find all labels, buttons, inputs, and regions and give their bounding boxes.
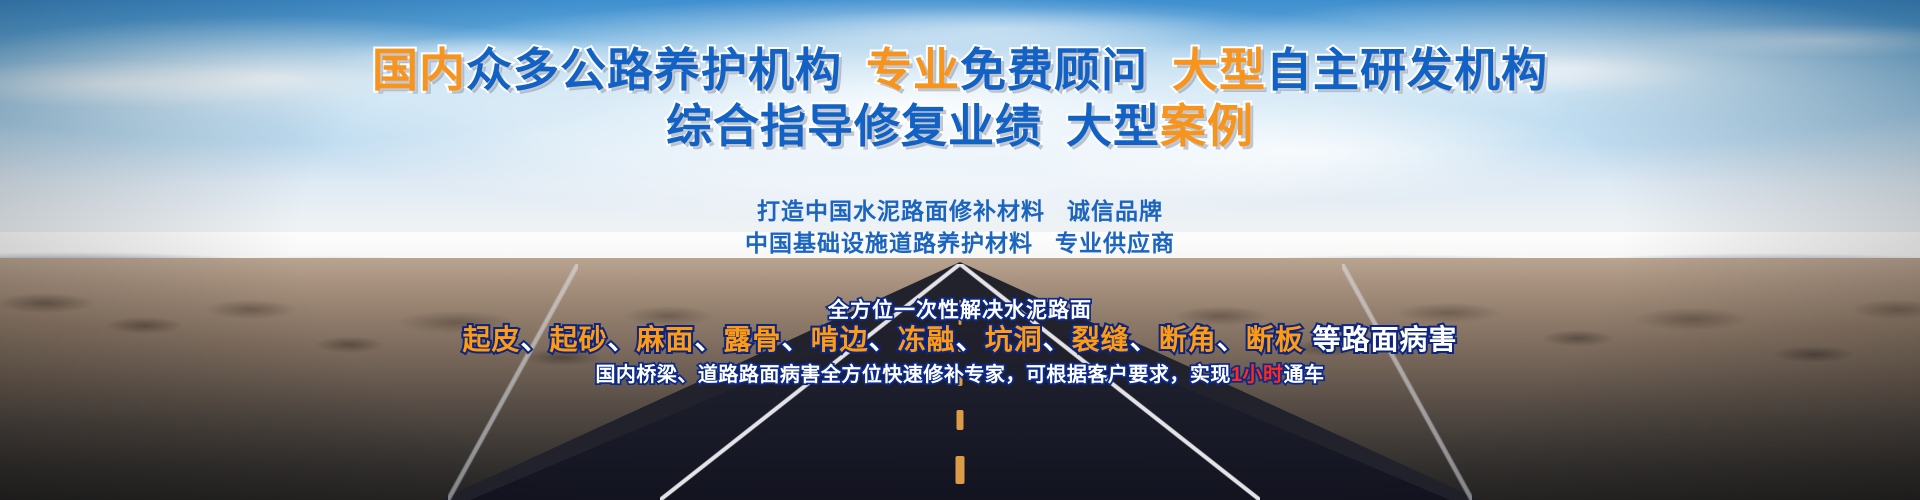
headline-seg-7: 综合指导修复业绩 <box>666 100 1042 152</box>
disease-separator-1: 、 <box>520 324 549 355</box>
headline-line-1: 国内众多公路养护机构专业免费顾问大型自主研发机构 <box>0 44 1920 96</box>
promo-banner: 国内众多公路养护机构专业免费顾问大型自主研发机构 综合指导修复业绩大型案例 打造… <box>0 0 1920 500</box>
disease-term-7: 坑洞 <box>985 324 1043 355</box>
headline-seg-8: 大型 <box>1066 100 1160 152</box>
disease-separator-4: 、 <box>782 324 811 355</box>
disease-suffix: 等路面病害 <box>1304 324 1458 355</box>
headline-seg-3: 专业 <box>866 44 960 96</box>
disease-term-6: 冻融 <box>898 324 956 355</box>
subheadline-2a: 中国基础设施道路养护材料 <box>745 230 1033 256</box>
disease-separator-9: 、 <box>1217 324 1246 355</box>
disease-term-9: 断角 <box>1159 324 1217 355</box>
disease-term-5: 啃边 <box>811 324 869 355</box>
subheadline-line-1: 打造中国水泥路面修补材料诚信品牌 <box>0 192 1920 226</box>
disease-term-4: 露骨 <box>724 324 782 355</box>
disease-separator-8: 、 <box>1130 324 1159 355</box>
subheadline-line-2: 中国基础设施道路养护材料专业供应商 <box>0 224 1920 258</box>
closing-highlight: 1小时 <box>1231 364 1284 386</box>
disease-separator-7: 、 <box>1043 324 1072 355</box>
closing-text-b: 通车 <box>1284 364 1325 386</box>
closing-text-a: 国内桥梁、道路路面病害全方位快速修补专家，可根据客户要求，实现 <box>595 364 1231 386</box>
headline-seg-9: 案例 <box>1160 100 1254 152</box>
subheadline-1a: 打造中国水泥路面修补材料 <box>757 198 1045 224</box>
disease-term-3: 麻面 <box>637 324 695 355</box>
headline-seg-6: 自主研发机构 <box>1266 44 1548 96</box>
closing-line: 国内桥梁、道路路面病害全方位快速修补专家，可根据客户要求，实现1小时通车 <box>0 358 1920 387</box>
disease-separator-2: 、 <box>608 324 637 355</box>
disease-term-10: 断板 <box>1246 324 1304 355</box>
headline-seg-1: 国内 <box>372 44 466 96</box>
headline-seg-2: 众多公路养护机构 <box>466 44 842 96</box>
disease-separator-5: 、 <box>869 324 898 355</box>
disease-term-8: 裂缝 <box>1072 324 1130 355</box>
subheadline-2b: 专业供应商 <box>1055 230 1175 256</box>
subheadline-1b: 诚信品牌 <box>1067 198 1163 224</box>
disease-separator-6: 、 <box>956 324 985 355</box>
disease-term-2: 起砂 <box>549 324 607 355</box>
banner-content: 国内众多公路养护机构专业免费顾问大型自主研发机构 综合指导修复业绩大型案例 打造… <box>0 0 1920 500</box>
disease-term-1: 起皮 <box>462 324 520 355</box>
headline-seg-5: 大型 <box>1172 44 1266 96</box>
headline-seg-4: 免费顾问 <box>960 44 1148 96</box>
disease-separator-3: 、 <box>695 324 724 355</box>
disease-list: 起皮、起砂、麻面、露骨、啃边、冻融、坑洞、裂缝、断角、断板 等路面病害 <box>0 318 1920 358</box>
headline-line-2: 综合指导修复业绩大型案例 <box>0 100 1920 152</box>
